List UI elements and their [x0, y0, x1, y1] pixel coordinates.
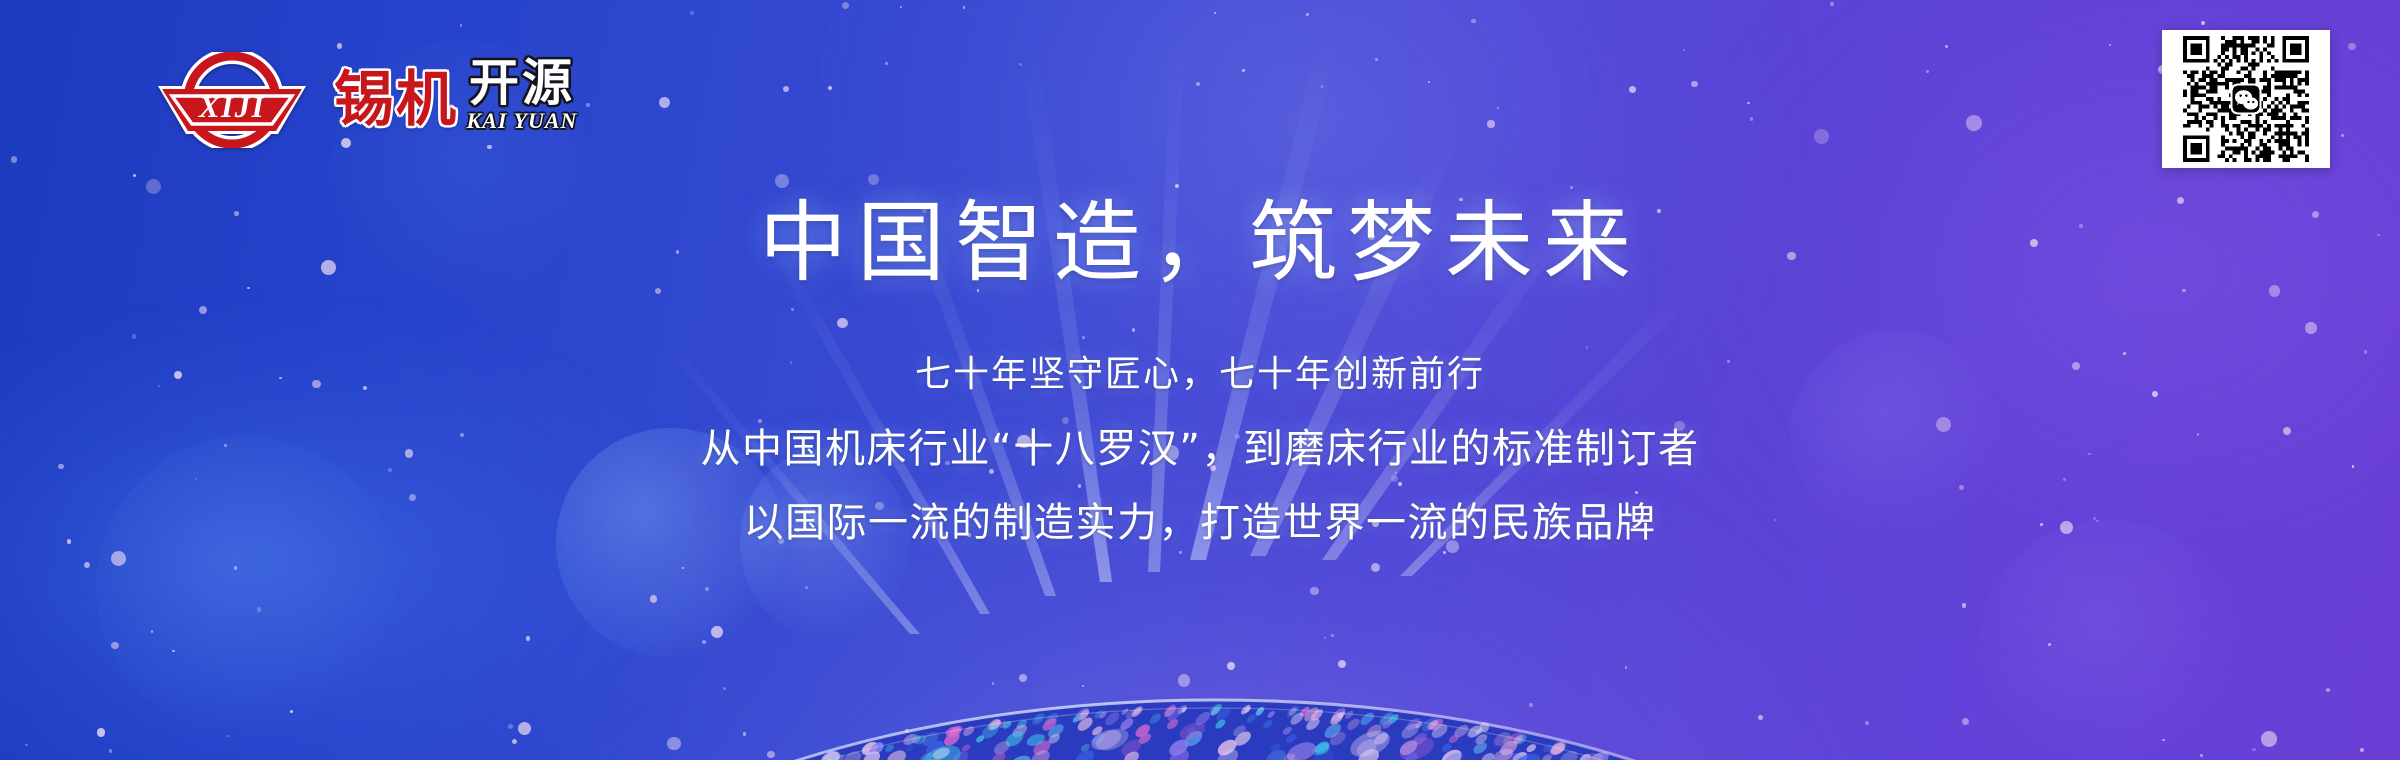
particle-dot [2348, 43, 2356, 51]
particle-dot [1480, 722, 1490, 732]
company-logo: XIJI 锡机 [148, 52, 458, 148]
particle-dot [487, 145, 491, 149]
particle-dot [650, 595, 658, 603]
particle-dot [1196, 82, 1200, 86]
particle-dot [1178, 674, 1191, 687]
particle-dot [151, 630, 154, 633]
particle-dot [226, 735, 229, 738]
particle-dot [778, 538, 784, 544]
particle-dot [1926, 70, 1929, 73]
particle-dot [2305, 322, 2317, 334]
particle-dot [1962, 603, 1967, 608]
particle-dot [1529, 703, 1533, 707]
particle-dot [2360, 748, 2364, 752]
particle-dot [1962, 718, 1969, 725]
particle-dot [1321, 85, 1324, 88]
particle-dot [676, 250, 680, 254]
particle-dot [2162, 739, 2165, 742]
particle-dot [1471, 19, 1475, 23]
particle-dot [321, 260, 336, 275]
particle-dot [790, 361, 793, 364]
particle-dot [767, 751, 775, 759]
particle-dot [1375, 58, 1379, 62]
particle-dot [711, 626, 723, 638]
particle-dot [1324, 637, 1326, 639]
particle-dot [257, 607, 261, 611]
particle-dot [1936, 417, 1951, 432]
particle-dot [783, 86, 790, 93]
particle-dot [67, 539, 72, 544]
particle-dot [655, 288, 661, 294]
particle-dot [337, 43, 342, 48]
particle-dot [2096, 520, 2099, 523]
particle-dot [1008, 504, 1011, 507]
particle-dot [743, 732, 747, 736]
particle-dot [2326, 688, 2330, 692]
particle-dot [2088, 453, 2091, 456]
particle-dot [1214, 12, 1216, 14]
particle-dot [1227, 662, 1235, 670]
page-title: 中国智造，筑梦未来 [0, 196, 2400, 295]
particle-dot [1019, 674, 1027, 682]
particle-dot [1625, 666, 1628, 669]
particle-dot [133, 174, 137, 178]
particle-dot [690, 11, 694, 15]
particle-dot [2201, 21, 2205, 25]
particle-dot [174, 371, 182, 379]
particle-dot [1966, 115, 1982, 131]
subtitle-line-3: 以国际一流的制造实力，打造世界一流的民族品牌 [0, 503, 2400, 543]
particle-dot [234, 566, 238, 570]
particle-dot [1331, 634, 1334, 637]
particle-dot [1395, 472, 1397, 474]
particle-dot [967, 533, 971, 537]
particle-dot [805, 586, 808, 589]
particle-dot [1017, 435, 1030, 448]
qr-matrix [2168, 36, 2324, 162]
bokeh-disc [556, 428, 786, 658]
digital-dot-globe [470, 352, 1960, 760]
particle-dot [875, 502, 884, 511]
glow-center-top [820, 0, 1800, 570]
particle-dot [388, 468, 392, 472]
particle-dot [2079, 224, 2084, 229]
particle-dot [2048, 643, 2051, 646]
particle-dot [2060, 521, 2073, 534]
particle-dot [1235, 434, 1240, 439]
particle-dot [2283, 427, 2291, 435]
particle-dot [1758, 715, 1763, 720]
particle-dot [1082, 336, 1085, 339]
particle-dot [512, 739, 517, 744]
particle-dot [1586, 346, 1589, 349]
particle-dot [1424, 367, 1430, 373]
particle-dot [1368, 233, 1375, 240]
particle-dot [2341, 134, 2344, 137]
particle-dot [1750, 117, 1754, 121]
particle-dot [900, 6, 902, 8]
particle-dot [1774, 519, 1776, 521]
particle-dot [1179, 551, 1182, 554]
brand-name-cn: 锡机 [334, 70, 458, 130]
particle-dot [828, 86, 832, 90]
particle-dot [2352, 465, 2354, 467]
particle-dot [1635, 491, 1638, 494]
particle-dot [58, 464, 64, 470]
particle-dot [992, 682, 994, 684]
particle-dot [2269, 285, 2281, 297]
particle-dot [290, 710, 293, 713]
particle-dot [945, 461, 950, 466]
particle-dot [1371, 563, 1380, 572]
particle-dot [1428, 81, 1430, 83]
particle-dot [1683, 49, 1685, 51]
particle-dot [2123, 352, 2126, 355]
particle-dot [2063, 478, 2066, 481]
particle-dot [1398, 482, 1402, 486]
particle-dot [132, 334, 137, 339]
particle-dot [526, 636, 530, 640]
particle-dot [1062, 417, 1069, 424]
particle-dot [1691, 81, 1698, 88]
particle-dot [1487, 120, 1494, 127]
particle-dot [1078, 484, 1081, 487]
particle-dot [1959, 485, 1964, 490]
particle-dot [1310, 587, 1319, 596]
particle-dot [2109, 44, 2111, 46]
particle-dot [1175, 184, 1179, 188]
particle-dot [518, 722, 531, 735]
particle-dot [1814, 129, 1829, 144]
particle-dot [775, 174, 789, 188]
particle-dot [409, 494, 417, 502]
particle-dot [111, 642, 119, 650]
particle-dot [1242, 69, 1244, 71]
particle-dot [146, 179, 161, 194]
particle-dot [1082, 685, 1084, 687]
particle-dot [111, 551, 126, 566]
particle-dot [247, 287, 250, 290]
particle-dot [1570, 186, 1573, 189]
particle-dot [1372, 520, 1379, 527]
particle-dot [922, 208, 927, 213]
particle-dot [758, 419, 762, 423]
particle-dot [405, 449, 414, 458]
particle-dot [460, 433, 465, 438]
particle-dot [1674, 421, 1685, 432]
particle-dot [158, 385, 160, 387]
xiji-badge-icon: XIJI [148, 52, 316, 148]
particle-dot [1657, 209, 1661, 213]
particle-dot [1338, 660, 1347, 669]
particle-dot [199, 306, 207, 314]
particle-dot [1391, 475, 1398, 482]
particle-dot [1830, 2, 1834, 6]
particle-dot [2261, 731, 2277, 747]
particle-dot [868, 174, 879, 185]
particle-dot [312, 380, 321, 389]
particle-dot [2030, 239, 2038, 247]
particle-dot [1027, 518, 1031, 522]
particle-dot [1019, 63, 1022, 66]
particle-dot [1061, 459, 1063, 461]
particle-dot [2182, 289, 2185, 292]
particle-dot [1081, 220, 1085, 224]
particle-dot [2197, 433, 2200, 436]
particle-dot [1443, 551, 1446, 554]
svg-text:XIJI: XIJI [198, 89, 265, 124]
particle-dot [2177, 197, 2184, 204]
hero-banner: XIJI 锡机 开源 KAI YUAN 中国智造，筑梦未来 七十年坚守匠心，七十… [0, 0, 2400, 760]
bokeh-disc [96, 436, 396, 736]
particle-dot [885, 62, 888, 65]
bokeh-disc [1790, 330, 2000, 540]
particle-dot [172, 650, 175, 653]
particle-dot [2093, 517, 2096, 520]
particle-dot [682, 567, 684, 569]
particle-dot [2252, 748, 2256, 752]
particle-dot [1163, 445, 1179, 461]
particle-dot [963, 6, 966, 9]
particle-dot [1727, 360, 1730, 363]
particle-dot [1306, 13, 1309, 16]
sub-brand-cn: 开源 [452, 58, 592, 108]
particle-dot [363, 386, 367, 390]
particle-dot [2377, 234, 2379, 236]
particle-dot [11, 156, 17, 162]
particle-dot [195, 478, 197, 480]
particle-dot [1629, 86, 1637, 94]
particle-dot [2152, 391, 2158, 397]
particle-dot [702, 640, 706, 644]
subtitle-line-1: 七十年坚守匠心，七十年创新前行 [0, 357, 2400, 393]
particle-dot [2040, 523, 2043, 526]
wechat-qr-code[interactable] [2162, 30, 2330, 168]
particle-dot [2200, 754, 2203, 757]
particle-dot [25, 744, 28, 747]
particle-dot [2072, 362, 2080, 370]
particle-dot [837, 318, 847, 328]
sub-brand-en: KAI YUAN [452, 110, 592, 132]
particle-dot [1459, 198, 1463, 202]
particle-dot [667, 737, 680, 750]
particle-dot [97, 728, 106, 737]
particle-dot [460, 24, 463, 27]
particle-dot [224, 444, 227, 447]
particle-dot [1787, 252, 1796, 261]
particle-dot [1945, 45, 1948, 48]
glow-globe-halo [430, 330, 1990, 760]
hero-copy: 中国智造，筑梦未来 七十年坚守匠心，七十年创新前行 从中国机床行业“十八罗汉”，… [0, 196, 2400, 543]
glow-left [0, 300, 720, 760]
particle-dot [1865, 721, 1869, 725]
bokeh-disc [1980, 520, 2240, 760]
particle-dot [796, 528, 800, 532]
particle-dot [705, 587, 709, 591]
particle-dot [2364, 350, 2368, 354]
bokeh-disc [740, 448, 910, 638]
particle-dot [977, 289, 979, 291]
particle-dot [109, 749, 113, 753]
particle-dot [1132, 328, 1136, 332]
particle-dot [1446, 540, 1460, 554]
particle-dot [84, 562, 90, 568]
particle-dot [279, 377, 282, 380]
sub-brand: 开源 KAI YUAN [452, 58, 592, 132]
particle-dot [234, 211, 238, 215]
particle-dot [842, 2, 849, 9]
particle-dot [1747, 102, 1750, 105]
particle-dot [791, 308, 794, 311]
particle-dot [905, 729, 909, 733]
particle-dot [659, 97, 670, 108]
particle-dot [1497, 107, 1499, 109]
particle-dot [989, 469, 994, 474]
particle-dot [508, 724, 513, 729]
subtitle-line-2: 从中国机床行业“十八罗汉”，到磨床行业的标准制订者 [0, 429, 2400, 469]
particle-dot [2312, 211, 2319, 218]
particle-dot [1210, 465, 1216, 471]
particle-dot [723, 687, 726, 690]
